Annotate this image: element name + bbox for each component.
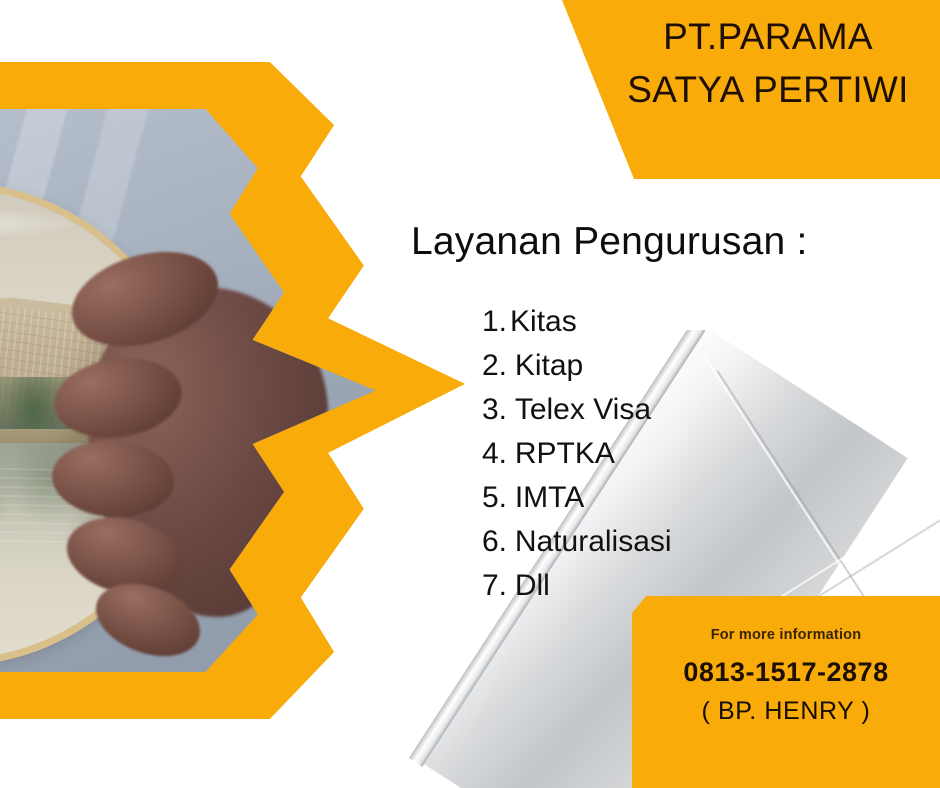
list-item: 4. RPTKA: [482, 432, 672, 476]
list-item: 3. Telex Visa: [482, 388, 672, 432]
list-item-number: 3.: [482, 388, 507, 432]
list-item: 1. Kitas: [482, 300, 672, 344]
list-item-number: 1.: [482, 300, 507, 344]
list-item: 6. Naturalisasi: [482, 520, 672, 564]
list-item: 5. IMTA: [482, 476, 672, 520]
list-item-label: Naturalisasi: [515, 520, 672, 564]
hexagon-photo-frame: [0, 62, 465, 719]
list-item-label: Dll: [515, 564, 550, 608]
list-item-number: 5.: [482, 476, 507, 520]
poster-canvas: PT.PARAMA SATYA PERTIWI Layanan Pengurus…: [0, 0, 940, 788]
list-item-number: 2.: [482, 344, 507, 388]
contact-panel: For more information 0813-1517-2878 ( BP…: [632, 596, 940, 788]
list-item-number: 6.: [482, 520, 507, 564]
list-item-label: Kitap: [515, 344, 583, 388]
list-item-label: IMTA: [515, 476, 584, 520]
list-item-number: 7.: [482, 564, 507, 608]
list-item-label: Telex Visa: [515, 388, 651, 432]
page-title: Layanan Pengurusan :: [411, 218, 807, 266]
list-item-label: Kitas: [510, 300, 577, 344]
list-item-label: RPTKA: [515, 432, 615, 476]
company-name: PT.PARAMA SATYA PERTIWI: [600, 10, 936, 116]
services-list: 1. Kitas 2. Kitap 3. Telex Visa 4. RPTKA…: [482, 300, 672, 608]
contact-more-info-label: For more information: [632, 627, 940, 643]
list-item: 2. Kitap: [482, 344, 672, 388]
hexagon-photo: [0, 109, 394, 672]
contact-phone-number[interactable]: 0813-1517-2878: [632, 657, 940, 688]
contact-person-name: ( BP. HENRY ): [632, 697, 940, 726]
list-item-number: 4.: [482, 432, 507, 476]
